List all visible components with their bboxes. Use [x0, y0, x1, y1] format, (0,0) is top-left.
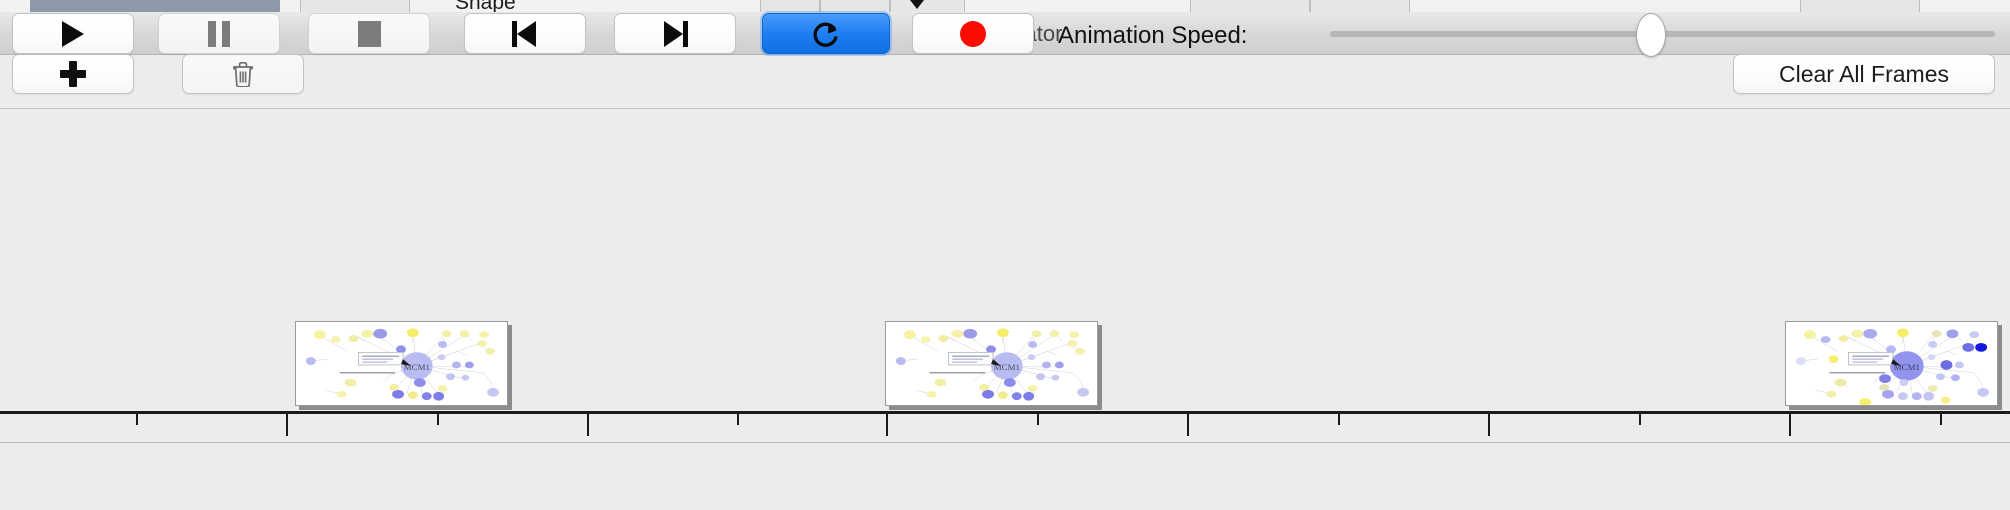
- network-thumbnail-graphic: MCM1: [296, 322, 507, 405]
- playback-control-bar: [0, 442, 2010, 510]
- background-tab: [760, 0, 820, 12]
- play-icon: [62, 21, 84, 47]
- timeline-frame-thumbnail[interactable]: MCM1: [885, 321, 1098, 406]
- background-tab: [820, 0, 890, 12]
- skip-to-start-button[interactable]: [464, 13, 586, 54]
- timeline-panel[interactable]: MCM1: [0, 109, 2010, 421]
- play-button[interactable]: [12, 13, 134, 54]
- axis-tick-major: [886, 414, 888, 436]
- skip-to-end-button[interactable]: [614, 13, 736, 54]
- timeline-frame-thumbnail[interactable]: MCM1: [295, 321, 508, 406]
- axis-tick-minor: [1940, 414, 1942, 425]
- background-tab: [1800, 0, 1920, 12]
- axis-tick-major: [1187, 414, 1189, 436]
- stop-button[interactable]: [308, 13, 430, 54]
- axis-tick-minor: [1338, 414, 1340, 425]
- animation-speed-label: Animation Speed:: [1058, 22, 1247, 50]
- axis-tick-major: [1488, 414, 1490, 436]
- add-frame-button[interactable]: [12, 54, 134, 94]
- slider-thumb[interactable]: [1636, 13, 1666, 57]
- loop-button[interactable]: [762, 13, 890, 54]
- background-tab: [300, 0, 410, 12]
- axis-tick-minor: [136, 414, 138, 425]
- record-button[interactable]: [912, 13, 1034, 54]
- background-marker-icon: [910, 0, 924, 9]
- timeline-frame-thumbnail[interactable]: MCM1: [1785, 321, 1998, 406]
- axis-tick-minor: [737, 414, 739, 425]
- axis-tick-major: [587, 414, 589, 436]
- network-thumbnail-graphic: MCM1: [1786, 322, 1997, 405]
- record-icon: [960, 21, 986, 47]
- loop-icon: [811, 19, 841, 49]
- network-thumbnail-graphic: MCM1: [886, 322, 1097, 405]
- cyanimator-window: Shape CyAnimator Clear All Frames: [0, 0, 2010, 510]
- skip-start-icon: [512, 21, 538, 47]
- skip-end-icon: [662, 21, 688, 47]
- pause-icon: [208, 21, 230, 47]
- background-tab: [1310, 0, 1410, 12]
- background-titlebar-segment: [30, 0, 280, 12]
- trash-icon: [232, 61, 254, 87]
- clear-all-frames-button[interactable]: Clear All Frames: [1733, 54, 1995, 94]
- axis-tick-minor: [1037, 414, 1039, 425]
- animation-speed-slider[interactable]: [1330, 13, 1995, 54]
- stop-icon: [358, 21, 381, 47]
- axis-tick-major: [286, 414, 288, 436]
- axis-tick-minor: [437, 414, 439, 425]
- delete-frame-button[interactable]: [182, 54, 304, 94]
- clear-all-frames-label: Clear All Frames: [1779, 61, 1949, 88]
- timeline-axis-line: [0, 411, 2010, 414]
- background-tab: [1190, 0, 1310, 12]
- pause-button[interactable]: [158, 13, 280, 54]
- axis-tick-major: [1789, 414, 1791, 436]
- axis-tick-minor: [1639, 414, 1641, 425]
- plus-icon: [60, 61, 86, 87]
- background-tab: [890, 0, 965, 12]
